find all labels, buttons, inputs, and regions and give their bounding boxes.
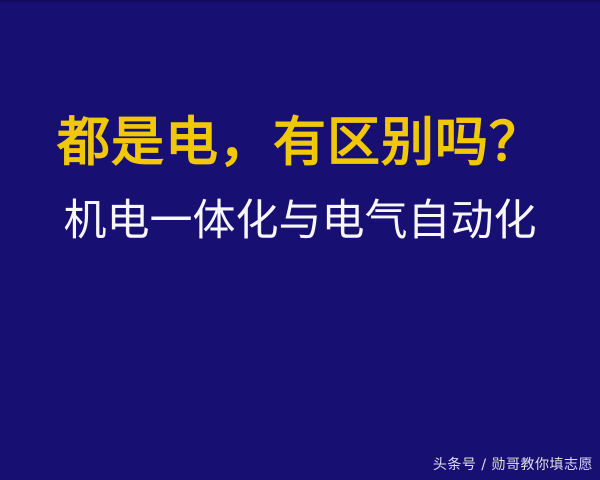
title-text-block: 都是电，有区别吗？ 机电一体化与电气自动化 bbox=[0, 112, 600, 247]
watermark-credit: 头条号 / 勋哥教你填志愿 bbox=[433, 456, 593, 474]
page-subtitle: 机电一体化与电气自动化 bbox=[0, 175, 600, 248]
page-title: 都是电，有区别吗？ bbox=[0, 112, 600, 175]
title-card: 都是电，有区别吗？ 机电一体化与电气自动化 头条号 / 勋哥教你填志愿 bbox=[0, 0, 600, 480]
